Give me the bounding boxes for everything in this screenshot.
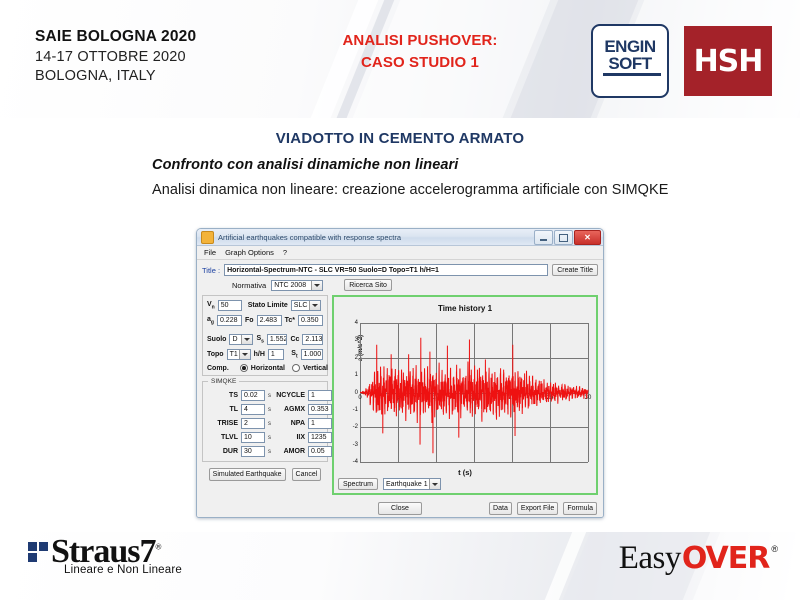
- suolo-row: Suolo D Ss 1.552 Cc 2.113: [207, 334, 323, 345]
- title-label: Title :: [202, 266, 220, 275]
- parameters-pane: Vn 50 Stato Limite SLC ag 0.228 Fo: [202, 295, 328, 481]
- simulated-earthquake-button[interactable]: Simulated Earthquake: [209, 468, 286, 481]
- spectrum-parameters-group: Vn 50 Stato Limite SLC ag 0.228 Fo: [202, 295, 328, 376]
- tc-input[interactable]: 0.350: [298, 315, 323, 326]
- earthquake-select-value: Earthquake 1: [386, 481, 428, 488]
- title-input[interactable]: Horizontal-Spectrum-NTC - SLC VR=50 Suol…: [224, 264, 548, 276]
- export-file-button[interactable]: Export File: [517, 502, 558, 515]
- window-title: Artificial earthquakes compatible with r…: [218, 233, 401, 242]
- npa-input[interactable]: 1: [308, 418, 332, 429]
- componente-row: Comp. Horizontal Vertical: [207, 364, 323, 372]
- tlvl-label: TLVL: [208, 434, 238, 441]
- ncycle-label: NCYCLE: [275, 392, 305, 399]
- ss-label: Ss: [256, 335, 263, 344]
- menu-item-graph-options[interactable]: Graph Options: [225, 248, 274, 257]
- stato-limite-label: Stato Limite: [248, 302, 288, 309]
- normativa-select[interactable]: NTC 2008: [271, 280, 323, 291]
- agmx-label: AGMX: [275, 406, 305, 413]
- vn-row: Vn 50 Stato Limite SLC: [207, 300, 323, 311]
- simqke-field-trise: TRISE 2 s: [208, 418, 271, 429]
- chevron-down-icon: [429, 479, 440, 489]
- window-title-bar: Artificial earthquakes compatible with r…: [197, 229, 603, 246]
- dur-input[interactable]: 30: [241, 446, 265, 457]
- maximize-button[interactable]: [554, 230, 573, 245]
- conference-name: SAIE BOLOGNA 2020: [35, 27, 196, 48]
- conference-dates: 14-17 OTTOBRE 2020: [35, 48, 196, 67]
- trise-input[interactable]: 2: [241, 418, 265, 429]
- presentation-title-line1: ANALISI PUSHOVER:: [300, 30, 540, 52]
- normativa-row: Normativa NTC 2008 Ricerca Sito: [232, 279, 598, 291]
- normativa-select-value: NTC 2008: [274, 282, 306, 289]
- simqke-field-iix: IIX 1235: [275, 432, 338, 443]
- chart-title: Time history 1: [334, 304, 596, 313]
- presentation-title: ANALISI PUSHOVER: CASO STUDIO 1: [300, 30, 540, 74]
- topo-row: Topo T1 h/H 1 St 1.000: [207, 349, 323, 360]
- registered-mark: ®: [771, 544, 778, 554]
- panes: Vn 50 Stato Limite SLC ag 0.228 Fo: [202, 295, 598, 495]
- accelerogram-trace: [360, 323, 588, 462]
- simqke-field-tl: TL 4 s: [208, 404, 271, 415]
- topo-label: Topo: [207, 351, 224, 358]
- simqke-field-ts: TS 0.02 s: [208, 390, 271, 401]
- y-tick: -3: [353, 442, 358, 448]
- body-text: Analisi dinamica non lineare: creazione …: [152, 180, 682, 201]
- tlvl-input[interactable]: 10: [241, 432, 265, 443]
- simqke-field-npa: NPA 1: [275, 418, 338, 429]
- suolo-select[interactable]: D: [229, 334, 253, 345]
- window-client-area: Title : Horizontal-Spectrum-NTC - SLC VR…: [197, 260, 603, 518]
- tl-unit: s: [268, 407, 271, 413]
- stato-limite-value: SLC: [294, 302, 308, 309]
- presentation-title-line2: CASO STUDIO 1: [300, 52, 540, 74]
- enginsoft-logo-line2: SOFT: [593, 55, 667, 72]
- iix-input[interactable]: 1235: [308, 432, 332, 443]
- vn-label: Vn: [207, 301, 215, 310]
- earthquake-select[interactable]: Earthquake 1: [383, 478, 441, 490]
- y-tick: -4: [353, 459, 358, 465]
- application-window: Artificial earthquakes compatible with r…: [196, 228, 604, 518]
- dur-label: DUR: [208, 448, 238, 455]
- chevron-down-icon: [311, 281, 322, 290]
- hh-label: h/H: [254, 351, 265, 358]
- straus7-logo-squares-icon: [28, 542, 48, 562]
- simqke-field-agmx: AGMX 0.353 g: [275, 404, 338, 415]
- ncycle-input[interactable]: 1: [308, 390, 332, 401]
- plot-area: a (m/s^2) 4 3 2 1 0 -1 -2 -3 -4: [360, 323, 588, 462]
- vn-input[interactable]: 50: [218, 300, 242, 311]
- fo-label: Fo: [245, 317, 254, 324]
- menu-item-file[interactable]: File: [204, 248, 216, 257]
- simqke-left-column: TS 0.02 s TL 4 s TRISE: [208, 390, 271, 457]
- normativa-label: Normativa: [232, 281, 266, 290]
- minimize-button[interactable]: [534, 230, 553, 245]
- ss-input[interactable]: 1.552: [267, 334, 288, 345]
- chevron-down-icon: [239, 350, 250, 359]
- amor-label: AMOR: [275, 448, 305, 455]
- y-tick: 3: [355, 337, 358, 343]
- iix-label: IIX: [275, 434, 305, 441]
- tc-label: Tc*: [285, 317, 295, 324]
- cancel-button[interactable]: Cancel: [292, 468, 322, 481]
- radio-horizontal[interactable]: [240, 364, 248, 372]
- chevron-down-icon: [241, 335, 252, 344]
- hh-input[interactable]: 1: [268, 349, 284, 360]
- simqke-field-amor: AMOR 0.05: [275, 446, 338, 457]
- straus7-logo: Straus7® Lineare e Non Lineare: [28, 536, 182, 576]
- enginsoft-logo-text: ENGIN SOFT: [593, 38, 667, 73]
- st-label: St: [291, 350, 297, 359]
- y-tick: 4: [355, 320, 358, 326]
- y-tick: 1: [355, 372, 358, 378]
- ag-label: ag: [207, 316, 214, 325]
- simqke-group: SIMQKE TS 0.02 s TL 4: [202, 381, 328, 462]
- conference-info: SAIE BOLOGNA 2020 14-17 OTTOBRE 2020 BOL…: [35, 27, 196, 86]
- app-icon: [201, 231, 214, 244]
- ag-input[interactable]: 0.228: [217, 315, 242, 326]
- simqke-field-tlvl: TLVL 10 s: [208, 432, 271, 443]
- formula-button[interactable]: Formula: [563, 502, 597, 515]
- action-button-row: Simulated Earthquake Cancel: [202, 468, 328, 481]
- easyover-logo-over: OVER: [682, 541, 770, 576]
- hsh-logo: HSH: [684, 26, 772, 96]
- topo-value: T1: [230, 351, 238, 358]
- title-row: Title : Horizontal-Spectrum-NTC - SLC VR…: [202, 264, 598, 276]
- conference-location: BOLOGNA, ITALY: [35, 67, 196, 86]
- npa-label: NPA: [275, 420, 305, 427]
- create-title-button[interactable]: Create Title: [552, 264, 598, 276]
- menu-bar[interactable]: File Graph Options ?: [197, 246, 603, 260]
- simqke-right-column: NCYCLE 1 AGMX 0.353 g NPA: [275, 390, 338, 457]
- radio-horizontal-label: Horizontal: [251, 365, 285, 372]
- radio-vertical-label: Vertical: [303, 365, 328, 372]
- enginsoft-logo: ENGIN SOFT: [591, 24, 669, 98]
- slide: SAIE BOLOGNA 2020 14-17 OTTOBRE 2020 BOL…: [0, 0, 800, 600]
- ts-label: TS: [208, 392, 238, 399]
- window-controls[interactable]: ✕: [534, 230, 601, 245]
- cc-input[interactable]: 2.113: [302, 334, 323, 345]
- section-title: VIADOTTO IN CEMENTO ARMATO: [0, 130, 800, 147]
- ts-unit: s: [268, 393, 271, 399]
- dur-unit: s: [268, 449, 271, 455]
- gridline-h: [360, 462, 588, 463]
- agmx-input[interactable]: 0.353: [308, 404, 332, 415]
- trise-unit: s: [268, 421, 271, 427]
- close-button[interactable]: Close: [378, 502, 422, 515]
- easyover-logo-easy: Easy: [619, 540, 681, 577]
- close-window-button[interactable]: ✕: [574, 230, 601, 245]
- suolo-label: Suolo: [207, 336, 226, 343]
- suolo-value: D: [232, 336, 237, 343]
- ricerca-sito-button[interactable]: Ricerca Sito: [344, 279, 392, 291]
- simqke-field-ncycle: NCYCLE 1: [275, 390, 338, 401]
- tlvl-unit: s: [268, 435, 271, 441]
- ag-row: ag 0.228 Fo 2.483 Tc* 0.350: [207, 315, 323, 326]
- menu-item-help[interactable]: ?: [283, 248, 287, 257]
- comp-label: Comp.: [207, 365, 229, 372]
- straus7-logo-tagline: Lineare e Non Lineare: [64, 564, 182, 576]
- fo-input[interactable]: 2.483: [257, 315, 282, 326]
- radio-vertical[interactable]: [292, 364, 300, 372]
- tl-input[interactable]: 4: [241, 404, 265, 415]
- hsh-logo-text: HSH: [694, 44, 763, 79]
- trise-label: TRISE: [208, 420, 238, 427]
- chart-controls: Spectrum Earthquake 1: [338, 478, 441, 490]
- stato-limite-select[interactable]: SLC: [291, 300, 321, 311]
- enginsoft-logo-line1: ENGIN: [593, 38, 667, 55]
- tl-label: TL: [208, 406, 238, 413]
- spectrum-button[interactable]: Spectrum: [338, 478, 378, 490]
- subtitle-italic: Confronto con analisi dinamiche non line…: [152, 157, 458, 173]
- chart-panel: Time history 1 a (m/s^2) 4 3 2 1 0 -1 -2…: [332, 295, 598, 495]
- y-tick: 2: [355, 355, 358, 361]
- x-axis-label: t (s): [334, 468, 596, 477]
- topo-select[interactable]: T1: [227, 349, 251, 360]
- chevron-down-icon: [309, 301, 320, 310]
- cc-label: Cc: [290, 336, 299, 343]
- data-button[interactable]: Data: [489, 502, 512, 515]
- registered-mark: ®: [155, 543, 160, 552]
- amor-input[interactable]: 0.05: [308, 446, 332, 457]
- ts-input[interactable]: 0.02: [241, 390, 265, 401]
- simqke-field-dur: DUR 30 s: [208, 446, 271, 457]
- st-input[interactable]: 1.000: [301, 349, 323, 360]
- simqke-group-label: SIMQKE: [208, 378, 239, 385]
- easyover-logo: Easy OVER ®: [619, 540, 778, 577]
- simqke-grid: TS 0.02 s TL 4 s TRISE: [208, 390, 322, 457]
- y-tick: -1: [353, 407, 358, 413]
- enginsoft-logo-rule: [603, 73, 661, 76]
- chart-footer-buttons: Data Export File Formula: [489, 502, 597, 515]
- y-tick: -2: [353, 424, 358, 430]
